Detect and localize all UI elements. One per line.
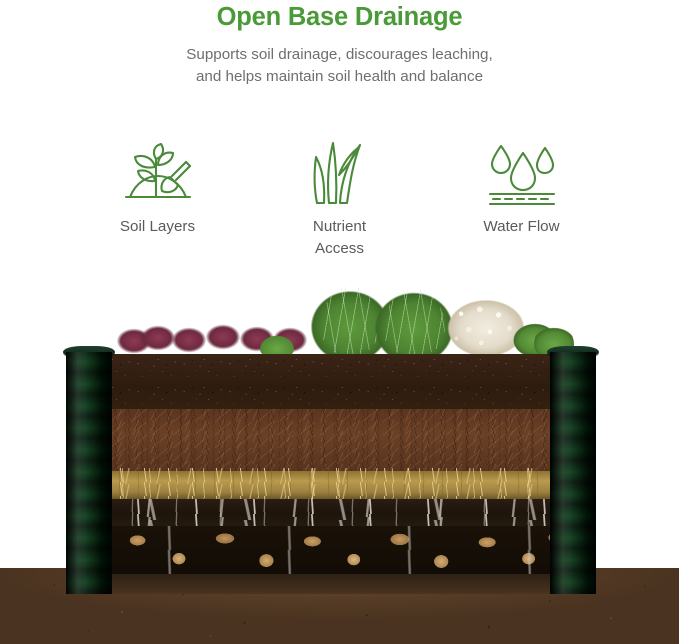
page-title: Open Base Drainage	[0, 2, 679, 32]
right-corrugated-post	[550, 342, 596, 594]
left-post-body	[66, 352, 112, 594]
straw-layer	[110, 471, 570, 499]
page-subtitle: Supports soil drainage, discourages leac…	[0, 44, 679, 88]
soil-layers-icon	[67, 133, 249, 205]
product-feature-panel: Open Base Drainage Supports soil drainag…	[0, 0, 679, 644]
feature-soil-layers: Soil Layers	[67, 133, 249, 260]
bark-mulch-layer	[110, 409, 570, 471]
right-post-body	[550, 352, 596, 594]
logs-layer	[110, 526, 570, 574]
twigs-layer	[110, 499, 570, 526]
vegetation-row	[110, 268, 570, 358]
water-droplets-icon	[431, 133, 613, 205]
garden-bed-cross-section-image	[0, 268, 679, 644]
feature-label-soil-layers: Soil Layers	[67, 216, 249, 238]
feature-label-water-flow: Water Flow	[431, 216, 613, 238]
base-drainage-layer	[110, 574, 570, 594]
feature-row: Soil Layers Nutrient Access	[0, 133, 679, 260]
left-corrugated-post	[66, 342, 112, 594]
feature-water-flow: Water Flow	[431, 133, 613, 260]
feature-nutrient-access: Nutrient Access	[249, 133, 431, 260]
subtitle-line-1: Supports soil drainage, discourages leac…	[0, 44, 679, 66]
header: Open Base Drainage Supports soil drainag…	[0, 0, 679, 88]
subtitle-line-2: and helps maintain soil health and balan…	[0, 66, 679, 88]
feature-label-nutrient-access: Nutrient Access	[249, 216, 431, 260]
soil-layer-stack	[110, 354, 570, 594]
grass-blades-icon	[249, 133, 431, 205]
compost-layer	[110, 354, 570, 409]
